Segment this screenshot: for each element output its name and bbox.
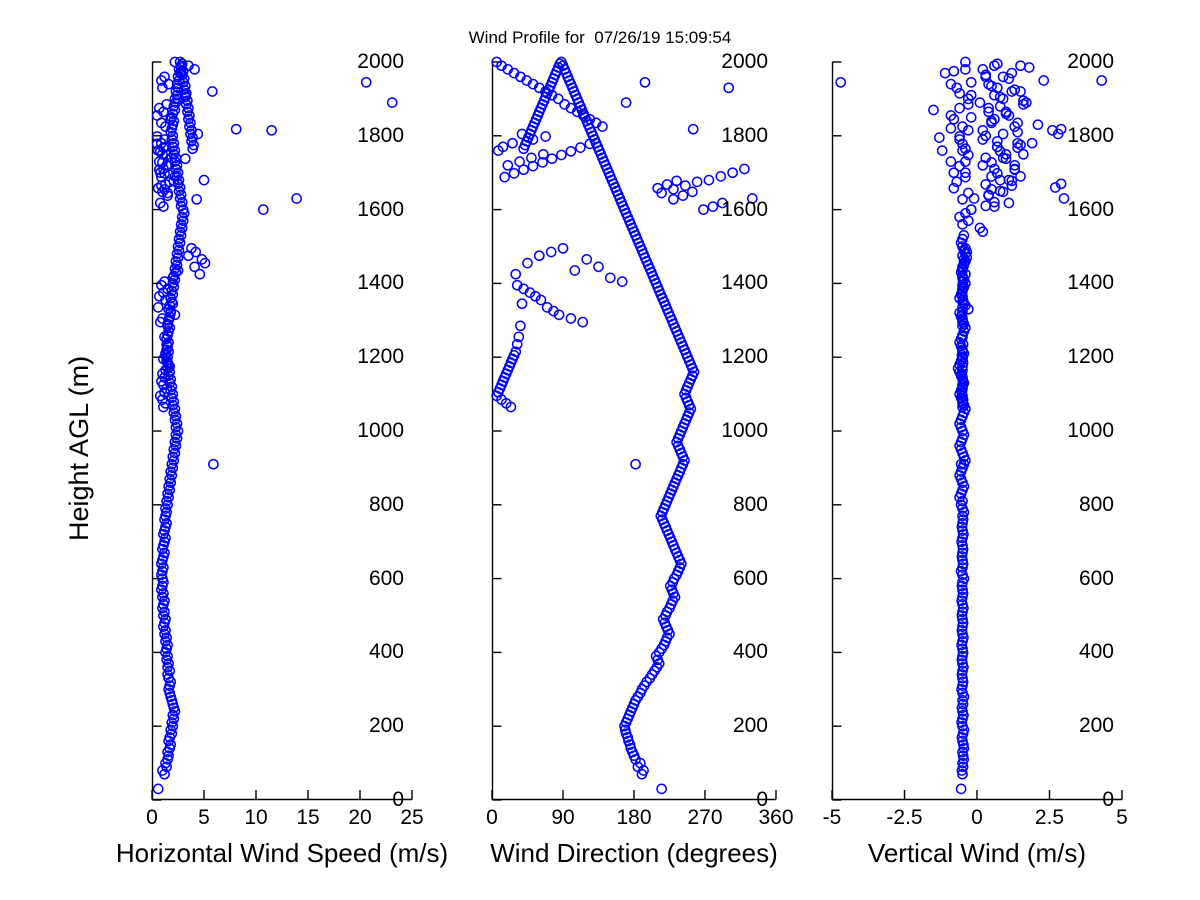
- data-point: [181, 154, 190, 163]
- scatter-series: [836, 57, 1106, 793]
- data-point: [1004, 74, 1013, 83]
- data-point: [523, 259, 532, 268]
- x-tick-label: 180: [616, 806, 651, 830]
- data-point: [606, 273, 615, 282]
- data-point: [558, 244, 567, 253]
- x-tick-label: -5: [823, 806, 842, 830]
- data-point: [740, 164, 749, 173]
- data-point: [964, 100, 973, 109]
- data-point: [708, 202, 717, 211]
- data-point: [938, 146, 947, 155]
- y-tick-label: 800: [733, 493, 768, 517]
- y-tick-label: 600: [733, 567, 768, 591]
- data-point: [631, 460, 640, 469]
- y-tick-label: 2000: [1067, 50, 1114, 74]
- y-tick-label: 1800: [721, 124, 768, 148]
- data-point: [981, 180, 990, 189]
- x-axis-label-vertical-wind: Vertical Wind (m/s): [868, 838, 1086, 869]
- y-tick-label: 400: [1079, 640, 1114, 664]
- data-point: [640, 78, 649, 87]
- data-point: [547, 247, 556, 256]
- x-axis-label-wind-direction: Wind Direction (degrees): [490, 838, 778, 869]
- y-tick-label: 200: [369, 714, 404, 738]
- data-point: [516, 321, 525, 330]
- data-point: [292, 194, 301, 203]
- data-point: [388, 98, 397, 107]
- data-point: [154, 784, 163, 793]
- data-point: [693, 177, 702, 186]
- data-point: [978, 126, 987, 135]
- data-point: [981, 201, 990, 210]
- data-point: [663, 180, 672, 189]
- x-tick-label: 25: [400, 806, 423, 830]
- data-point: [511, 270, 520, 279]
- y-tick-label: 1400: [1067, 271, 1114, 295]
- data-point: [209, 460, 218, 469]
- data-point: [618, 277, 627, 286]
- data-point: [957, 784, 966, 793]
- y-tick-label: 1000: [1067, 419, 1114, 443]
- x-tick-label: 10: [244, 806, 267, 830]
- panel-vertical-wind: 0200400600800100012001400160018002000-5-…: [832, 62, 1122, 800]
- data-point: [689, 125, 698, 134]
- data-point: [946, 157, 955, 166]
- x-tick-label: -2.5: [886, 806, 922, 830]
- data-point: [941, 69, 950, 78]
- chart-title: Wind Profile for 07/26/19 15:09:54: [0, 28, 1200, 48]
- data-point: [724, 83, 733, 92]
- x-tick-label: 0: [486, 806, 498, 830]
- y-tick-label: 600: [1079, 567, 1114, 591]
- y-tick-label: 1600: [1067, 198, 1114, 222]
- x-axis-label-horizontal-wind-speed: Horizontal Wind Speed (m/s): [116, 838, 448, 869]
- y-tick-label: 1200: [357, 345, 404, 369]
- data-point: [699, 205, 708, 214]
- y-tick-label: 400: [369, 640, 404, 664]
- y-tick-label: 200: [1079, 714, 1114, 738]
- y-tick-label: 1200: [1067, 345, 1114, 369]
- data-point: [259, 205, 268, 214]
- data-point: [1097, 76, 1106, 85]
- data-point: [576, 143, 585, 152]
- y-tick-label: 1800: [357, 124, 404, 148]
- data-point: [503, 161, 512, 170]
- data-point: [267, 126, 276, 135]
- x-tick-label: 0: [146, 806, 158, 830]
- data-point: [582, 255, 591, 264]
- data-point: [975, 98, 984, 107]
- data-point: [1028, 139, 1037, 148]
- data-point: [1033, 120, 1042, 129]
- y-tick-label: 800: [1079, 493, 1114, 517]
- panel-wind-direction: 0200400600800100012001400160018002000090…: [492, 62, 776, 800]
- x-tick-label: 0: [971, 806, 983, 830]
- data-point: [704, 176, 713, 185]
- y-axis-label: Height AGL (m): [64, 356, 95, 541]
- data-point: [836, 78, 845, 87]
- scatter-series: [492, 57, 757, 793]
- y-tick-label: 1200: [721, 345, 768, 369]
- y-tick-label: 800: [369, 493, 404, 517]
- data-point: [1016, 61, 1025, 70]
- data-point: [935, 133, 944, 142]
- y-tick-label: 1800: [1067, 124, 1114, 148]
- x-tick-label: 90: [551, 806, 574, 830]
- data-point: [657, 784, 666, 793]
- y-tick-label: 600: [369, 567, 404, 591]
- data-point: [955, 89, 964, 98]
- data-point: [716, 172, 725, 181]
- data-point: [208, 87, 217, 96]
- data-point: [517, 299, 526, 308]
- data-point: [500, 173, 509, 182]
- y-tick-label: 0: [1102, 788, 1114, 812]
- data-point: [970, 194, 979, 203]
- y-ticks: [833, 62, 842, 800]
- data-point: [1010, 85, 1019, 94]
- data-point: [510, 169, 519, 178]
- y-tick-label: 1600: [357, 198, 404, 222]
- data-point: [232, 125, 241, 134]
- data-point: [570, 266, 579, 275]
- x-tick-label: 15: [296, 806, 319, 830]
- data-point: [535, 251, 544, 260]
- data-point: [688, 187, 697, 196]
- data-point: [990, 61, 999, 70]
- data-point: [622, 98, 631, 107]
- panel-horizontal-wind-speed: 0200400600800100012001400160018002000051…: [152, 62, 412, 800]
- x-tick-label: 2.5: [1035, 806, 1064, 830]
- data-point: [1016, 87, 1025, 96]
- data-point: [967, 113, 976, 122]
- data-point: [669, 195, 678, 204]
- x-ticks: [492, 790, 776, 800]
- x-ticks: [152, 790, 412, 800]
- x-tick-label: 270: [687, 806, 722, 830]
- y-tick-label: 1000: [721, 419, 768, 443]
- data-point: [1039, 76, 1048, 85]
- data-point: [566, 314, 575, 323]
- data-point: [154, 303, 163, 312]
- data-point: [594, 262, 603, 271]
- x-tick-label: 360: [758, 806, 793, 830]
- wind-profile-figure: Wind Profile for 07/26/19 15:09:54 02004…: [0, 0, 1200, 900]
- data-point: [949, 67, 958, 76]
- data-point: [557, 150, 566, 159]
- data-point: [955, 104, 964, 113]
- y-tick-label: 1400: [357, 271, 404, 295]
- data-point: [192, 195, 201, 204]
- data-point: [199, 176, 208, 185]
- data-point: [578, 318, 587, 327]
- y-tick-label: 1400: [721, 271, 768, 295]
- data-point: [1013, 128, 1022, 137]
- y-tick-label: 200: [733, 714, 768, 738]
- y-tick-label: 1000: [357, 419, 404, 443]
- data-point: [999, 72, 1008, 81]
- data-point: [987, 81, 996, 90]
- y-tick-label: 1600: [721, 198, 768, 222]
- data-point: [929, 105, 938, 114]
- data-point: [508, 139, 517, 148]
- y-tick-label: 400: [733, 640, 768, 664]
- data-point: [728, 168, 737, 177]
- data-point: [1025, 63, 1034, 72]
- data-point: [566, 147, 575, 156]
- data-point: [946, 124, 955, 133]
- data-point: [541, 132, 550, 141]
- data-point: [190, 262, 199, 271]
- x-tick-label: 5: [1116, 806, 1128, 830]
- data-point: [958, 195, 967, 204]
- x-tick-label: 5: [198, 806, 210, 830]
- y-tick-label: 2000: [721, 50, 768, 74]
- y-ticks: [493, 62, 502, 800]
- y-tick-label: 2000: [357, 50, 404, 74]
- data-point: [1007, 69, 1016, 78]
- data-point: [678, 191, 687, 200]
- data-point: [362, 78, 371, 87]
- x-ticks: [832, 790, 1122, 800]
- data-point: [519, 165, 528, 174]
- data-point: [672, 176, 681, 185]
- data-point: [1004, 198, 1013, 207]
- data-point: [967, 78, 976, 87]
- data-point: [547, 154, 556, 163]
- x-tick-label: 20: [348, 806, 371, 830]
